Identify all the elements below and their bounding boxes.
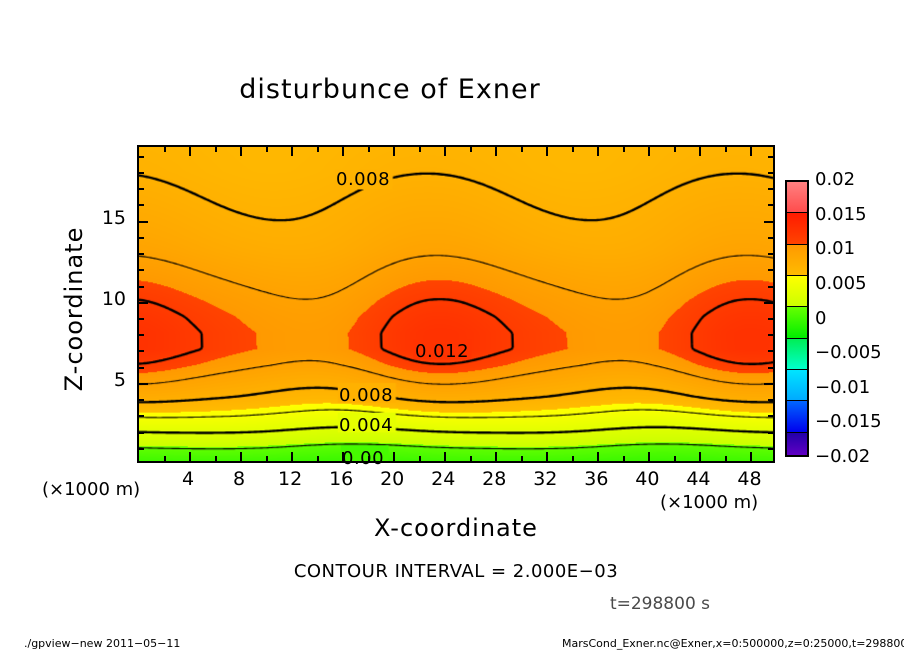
x-axis-tick <box>215 147 217 152</box>
z-axis-tick <box>139 269 144 271</box>
x-axis-tick <box>368 147 370 152</box>
x-axis-tick <box>699 452 701 461</box>
contour-label: 0.00 <box>342 448 384 469</box>
z-axis-tick <box>139 318 144 320</box>
z-axis-tick <box>768 269 773 271</box>
colorbar-band <box>787 244 807 275</box>
x-axis-tick <box>546 452 548 461</box>
colorbar-tick-label: −0.02 <box>815 446 870 467</box>
contour-interval-note: CONTOUR INTERVAL = 2.000E−03 <box>137 561 775 582</box>
x-axis-tick <box>750 452 752 461</box>
colorbar-tick-label: 0.02 <box>815 169 855 190</box>
z-axis-tick <box>139 334 144 336</box>
x-axis-tick <box>444 147 446 156</box>
x-axis-tick <box>623 456 625 461</box>
x-axis-tick <box>189 147 191 156</box>
z-axis-tick <box>768 237 773 239</box>
z-axis-tick <box>139 237 144 239</box>
x-axis-tick <box>521 456 523 461</box>
z-axis-tick <box>768 188 773 190</box>
y-axis-unit: (×1000 m) <box>42 479 140 500</box>
x-axis-tick <box>597 147 599 156</box>
x-axis-tick <box>342 147 344 156</box>
z-axis-tick <box>764 302 773 304</box>
contour-label: 0.012 <box>415 341 469 362</box>
z-axis-tick <box>139 399 144 401</box>
colorbar-band <box>787 182 807 212</box>
z-axis-tick <box>139 448 144 450</box>
x-axis-tick <box>240 147 242 156</box>
z-axis-tick <box>139 286 144 288</box>
x-axis-tick <box>215 456 217 461</box>
x-axis-tick <box>623 147 625 152</box>
x-axis-tick <box>725 147 727 152</box>
footer-command: ./gpview−new 2011−05−11 <box>24 637 180 650</box>
x-axis-tick <box>495 147 497 156</box>
z-axis-tick <box>768 156 773 158</box>
z-axis-tick <box>768 448 773 450</box>
z-axis-tick <box>139 221 148 223</box>
x-axis-tick <box>266 147 268 152</box>
x-axis-tick <box>674 147 676 152</box>
z-axis-tick <box>139 350 144 352</box>
x-axis-tick <box>674 456 676 461</box>
x-axis-tick <box>393 147 395 156</box>
colorbar-band <box>787 400 807 431</box>
z-axis-tick <box>768 204 773 206</box>
x-axis-tick <box>164 147 166 152</box>
colorbar-tick-label: −0.005 <box>815 342 882 363</box>
y-axis-title: Z-coordinate <box>60 189 88 429</box>
x-axis-tick <box>597 452 599 461</box>
x-axis-tick <box>419 147 421 152</box>
z-axis-tick <box>768 286 773 288</box>
contour-plot-area[interactable] <box>137 145 775 463</box>
x-axis-tick <box>291 452 293 461</box>
x-axis-tick <box>750 147 752 156</box>
colorbar-tick-label: 0.01 <box>815 238 855 259</box>
footer-source: MarsCond_Exner.nc@Exner,x=0:500000,z=0:2… <box>562 637 904 650</box>
x-axis-title: X-coordinate <box>137 514 775 542</box>
contour-label: 0.008 <box>336 169 390 190</box>
colorbar-band <box>787 432 807 457</box>
x-axis-tick <box>317 147 319 152</box>
z-axis-tick <box>139 367 144 369</box>
colorbar-tick-label: −0.01 <box>815 377 870 398</box>
colorbar-tick-label: −0.015 <box>815 411 882 432</box>
x-axis-tick <box>699 147 701 156</box>
z-axis-tick <box>768 172 773 174</box>
z-axis-tick <box>139 253 144 255</box>
z-axis-tick <box>139 156 144 158</box>
colorbar-band <box>787 212 807 243</box>
x-axis-tick <box>393 452 395 461</box>
z-axis-tick <box>768 334 773 336</box>
colorbar-tick-label: 0.015 <box>815 204 867 225</box>
x-axis-tick <box>266 456 268 461</box>
z-axis-tick <box>139 188 144 190</box>
x-axis-tick <box>648 147 650 156</box>
x-axis-tick <box>444 452 446 461</box>
x-axis-tick <box>317 456 319 461</box>
x-axis-tick <box>546 147 548 156</box>
x-axis-tick <box>470 147 472 152</box>
x-axis-tick <box>164 456 166 461</box>
z-axis-tick <box>139 302 148 304</box>
z-axis-tick <box>139 204 144 206</box>
colorbar[interactable] <box>785 180 809 457</box>
colorbar-band <box>787 306 807 337</box>
z-axis-tick <box>764 383 773 385</box>
x-axis-tick <box>495 452 497 461</box>
x-axis-tick <box>291 147 293 156</box>
z-axis-tick <box>764 221 773 223</box>
x-axis-tick <box>648 452 650 461</box>
x-axis-unit: (×1000 m) <box>660 492 758 513</box>
z-axis-tick <box>768 367 773 369</box>
page-title: disturbunce of Exner <box>0 74 780 105</box>
z-axis-tick <box>768 253 773 255</box>
colorbar-tick-label: 0 <box>815 308 826 329</box>
z-axis-tick <box>139 432 144 434</box>
z-axis-tick <box>139 415 144 417</box>
z-axis-tick <box>139 172 144 174</box>
colorbar-band <box>787 338 807 369</box>
x-axis-tick <box>572 456 574 461</box>
x-axis-tick <box>470 456 472 461</box>
z-axis-tick <box>768 318 773 320</box>
x-axis-tick <box>419 456 421 461</box>
x-tick-label: 48 <box>719 468 779 490</box>
x-axis-tick <box>189 452 191 461</box>
x-axis-tick <box>572 147 574 152</box>
colorbar-band <box>787 275 807 306</box>
z-axis-tick <box>139 383 148 385</box>
z-axis-tick <box>768 432 773 434</box>
timestamp-note: t=298800 s <box>540 594 780 614</box>
colorbar-band <box>787 369 807 400</box>
z-axis-tick <box>768 350 773 352</box>
z-axis-tick <box>768 399 773 401</box>
contour-field-canvas <box>139 147 773 461</box>
x-axis-tick <box>521 147 523 152</box>
contour-label: 0.008 <box>339 385 393 406</box>
contour-label: 0.004 <box>339 415 393 436</box>
x-axis-tick <box>725 456 727 461</box>
z-axis-tick <box>768 415 773 417</box>
x-axis-tick <box>240 452 242 461</box>
colorbar-tick-label: 0.005 <box>815 273 867 294</box>
